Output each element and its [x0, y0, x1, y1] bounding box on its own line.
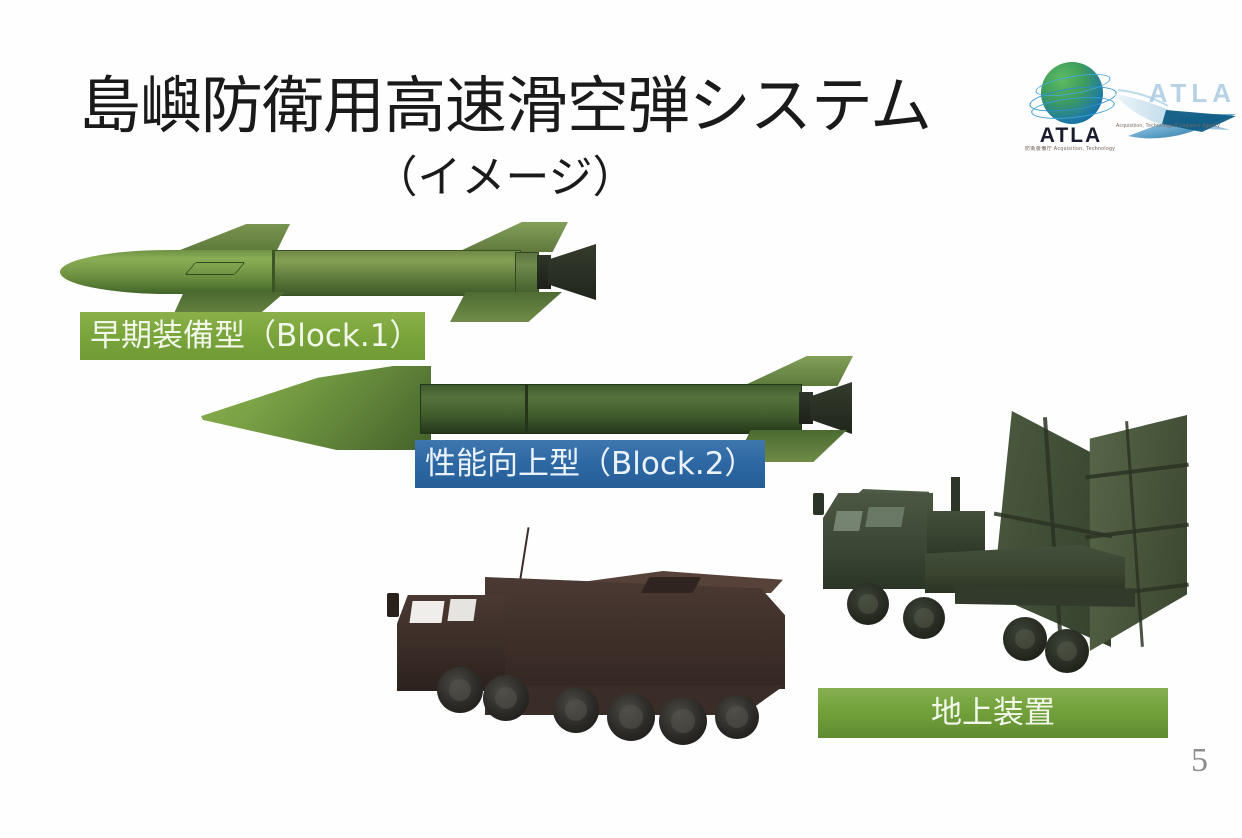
vehicle-wheel [437, 667, 483, 713]
vehicle-wheel [847, 583, 889, 625]
cab-window [865, 507, 905, 527]
cab-mirror [813, 493, 824, 515]
vehicle-wheel [903, 597, 945, 639]
vehicle-wheel [553, 687, 599, 733]
vehicle-wheel [1003, 617, 1047, 661]
missile-canister-pack [993, 411, 1189, 647]
shelter-body [485, 577, 785, 689]
missile-body [420, 384, 802, 434]
atla-dart-subtext: Acquisition, Technology & Logistics Agen… [1116, 122, 1220, 130]
label-block2: 性能向上型（Block.2） [415, 440, 765, 488]
atla-dart-wordmark: ATLA [1149, 78, 1236, 109]
missile-seam [525, 384, 528, 432]
launcher-vehicle-graphic [805, 415, 1200, 690]
truck-chassis [955, 585, 1135, 607]
page-title: 島嶼防衛用高速滑空弾システム [0, 74, 1010, 137]
missile-body [275, 250, 521, 296]
radio-antenna [518, 527, 529, 585]
label-ground-equipment: 地上装置 [818, 688, 1168, 738]
missile-fin [175, 224, 290, 252]
atla-globe-logo: ATLA 防衛装備庁 Acquisition, Technology & Log… [1025, 62, 1117, 166]
atla-wordmark: ATLA [1025, 124, 1117, 148]
missile-fin [450, 292, 562, 322]
logo-group: ATLA 防衛装備庁 Acquisition, Technology & Log… [1015, 58, 1240, 168]
atla-logo-subtext: 防衛装備庁 Acquisition, Technology & Logistic… [1025, 146, 1117, 154]
label-block1: 早期装備型（Block.1） [80, 312, 425, 360]
missile-seam [272, 250, 275, 294]
missile-fin [743, 356, 853, 386]
page-number: 5 [1191, 742, 1208, 780]
missile-nozzle-bell [548, 244, 596, 300]
missile-nose-cone [60, 250, 278, 294]
cab-window [833, 511, 863, 531]
vehicle-wheel [1045, 629, 1089, 673]
missile-glide-body-nose [195, 366, 431, 450]
cab-window [409, 601, 444, 623]
missile-block1-graphic [50, 222, 630, 322]
vehicle-wheel [483, 675, 529, 721]
slide-canvas: 島嶼防衛用高速滑空弾システム （イメージ） ATLA 防衛装備庁 Acquisi… [0, 0, 1242, 838]
vehicle-wheel [715, 695, 759, 739]
cab-window [447, 599, 476, 621]
equipment-module [927, 511, 985, 555]
missile-fin [458, 222, 568, 252]
command-vehicle-graphic [375, 535, 835, 750]
atla-dart-logo: ATLA Acquisition, Technology & Logistics… [1110, 70, 1240, 156]
roof-hatch [641, 577, 702, 593]
page-subtitle: （イメージ） [0, 141, 1010, 205]
vehicle-wheel [607, 693, 655, 741]
slide-title-block: 島嶼防衛用高速滑空弾システム （イメージ） [0, 74, 1010, 205]
missile-aft-section [515, 252, 539, 294]
cab-mirror [387, 593, 399, 617]
vehicle-wheel [659, 697, 707, 745]
